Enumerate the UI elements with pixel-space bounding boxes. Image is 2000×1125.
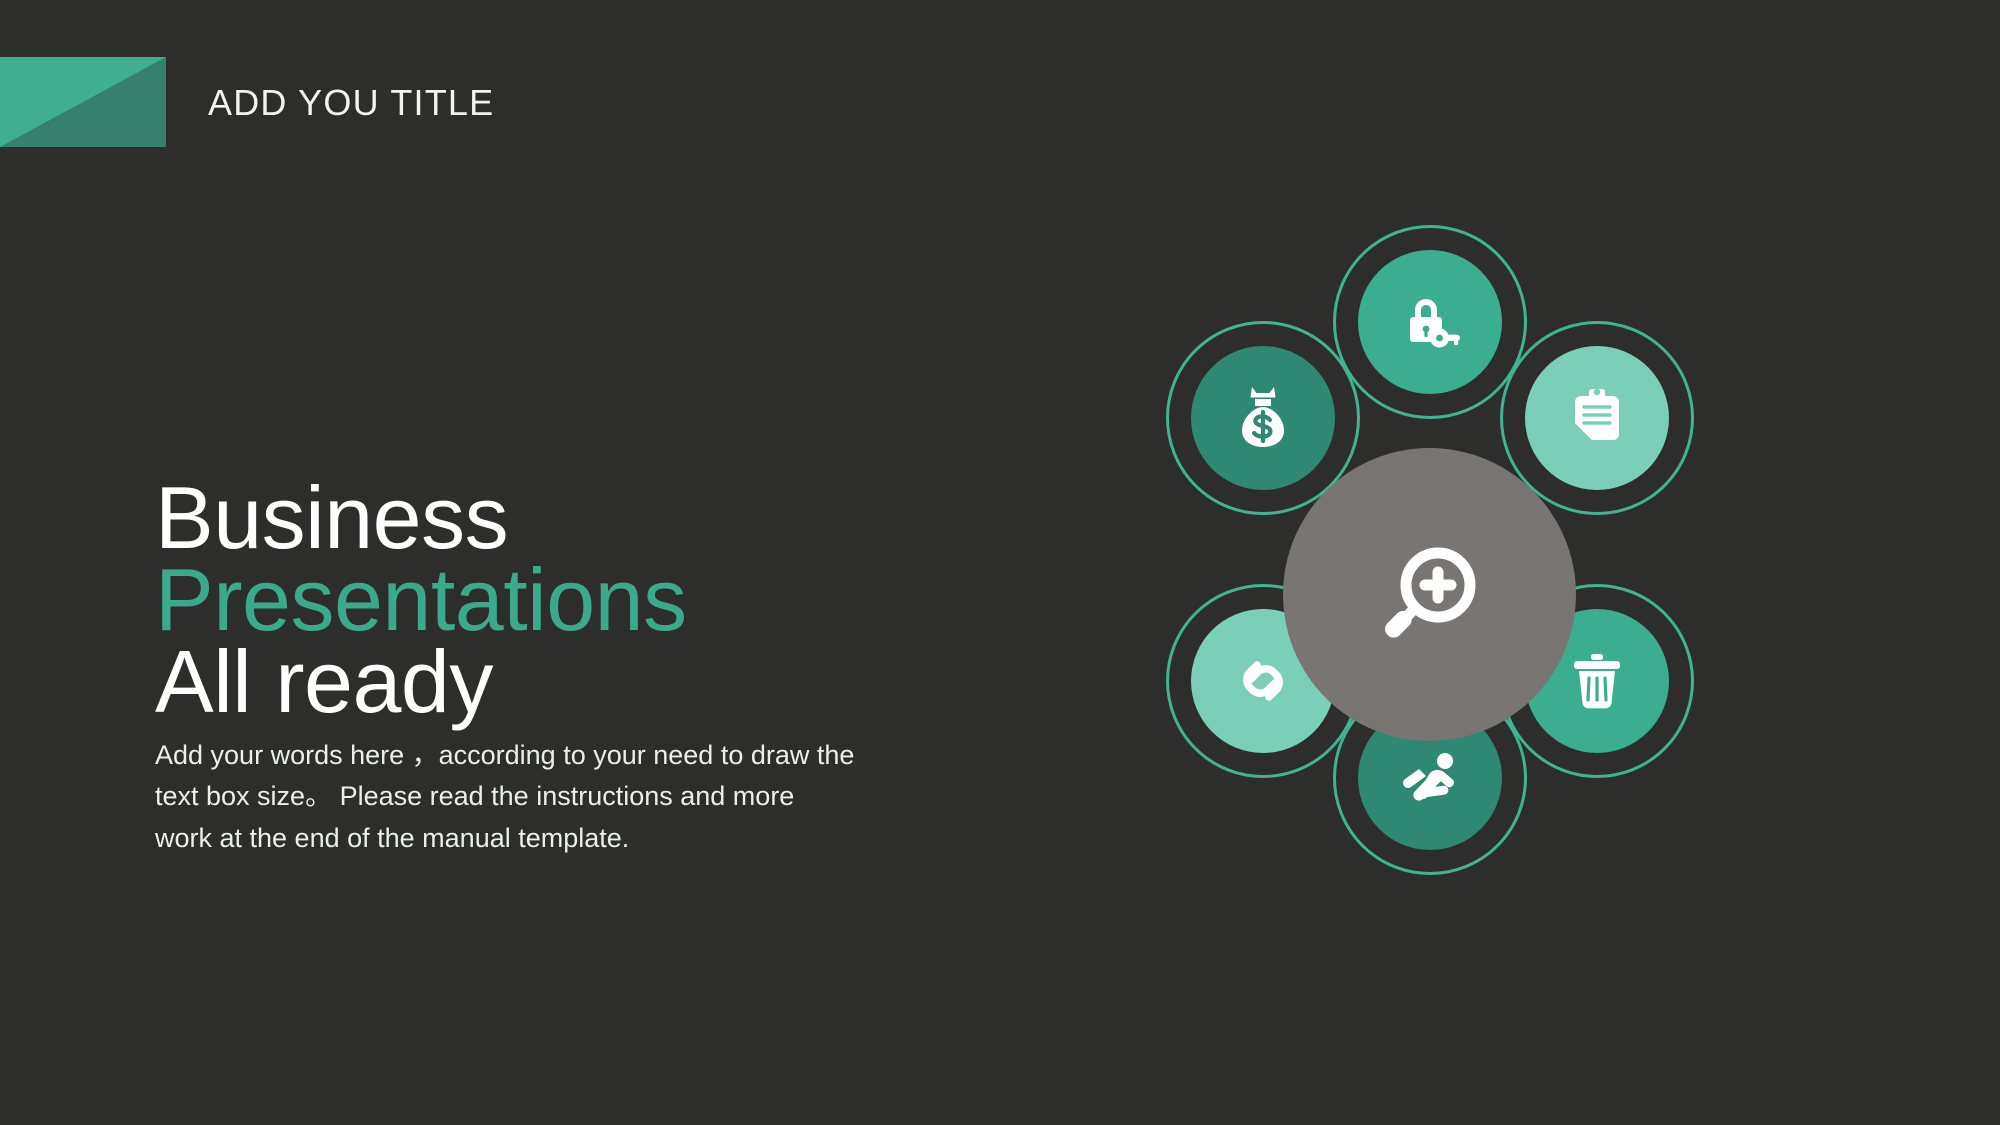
header-accent-shape <box>0 57 166 147</box>
clipboard-icon <box>1525 346 1669 490</box>
icon-cluster <box>1080 225 1780 965</box>
cluster-hub[interactable] <box>1283 448 1576 741</box>
lock-key-icon <box>1358 250 1502 394</box>
headline-line-1: Business <box>155 477 915 559</box>
headline-line-3: All ready <box>155 641 915 723</box>
page-title: ADD YOU TITLE <box>208 82 494 124</box>
body-paragraph: Add your words here ，according to your n… <box>155 735 855 859</box>
headline-line-2: Presentations <box>155 559 915 641</box>
cluster-node-lock[interactable] <box>1333 225 1527 419</box>
headline-block: Business Presentations All ready <box>155 477 915 722</box>
magnifier-plus-icon <box>1370 535 1490 655</box>
money-bag-icon <box>1191 346 1335 490</box>
cluster-node-clipboard[interactable] <box>1500 321 1694 515</box>
presentation-slide: ADD YOU TITLE Business Presentations All… <box>0 0 2000 1125</box>
